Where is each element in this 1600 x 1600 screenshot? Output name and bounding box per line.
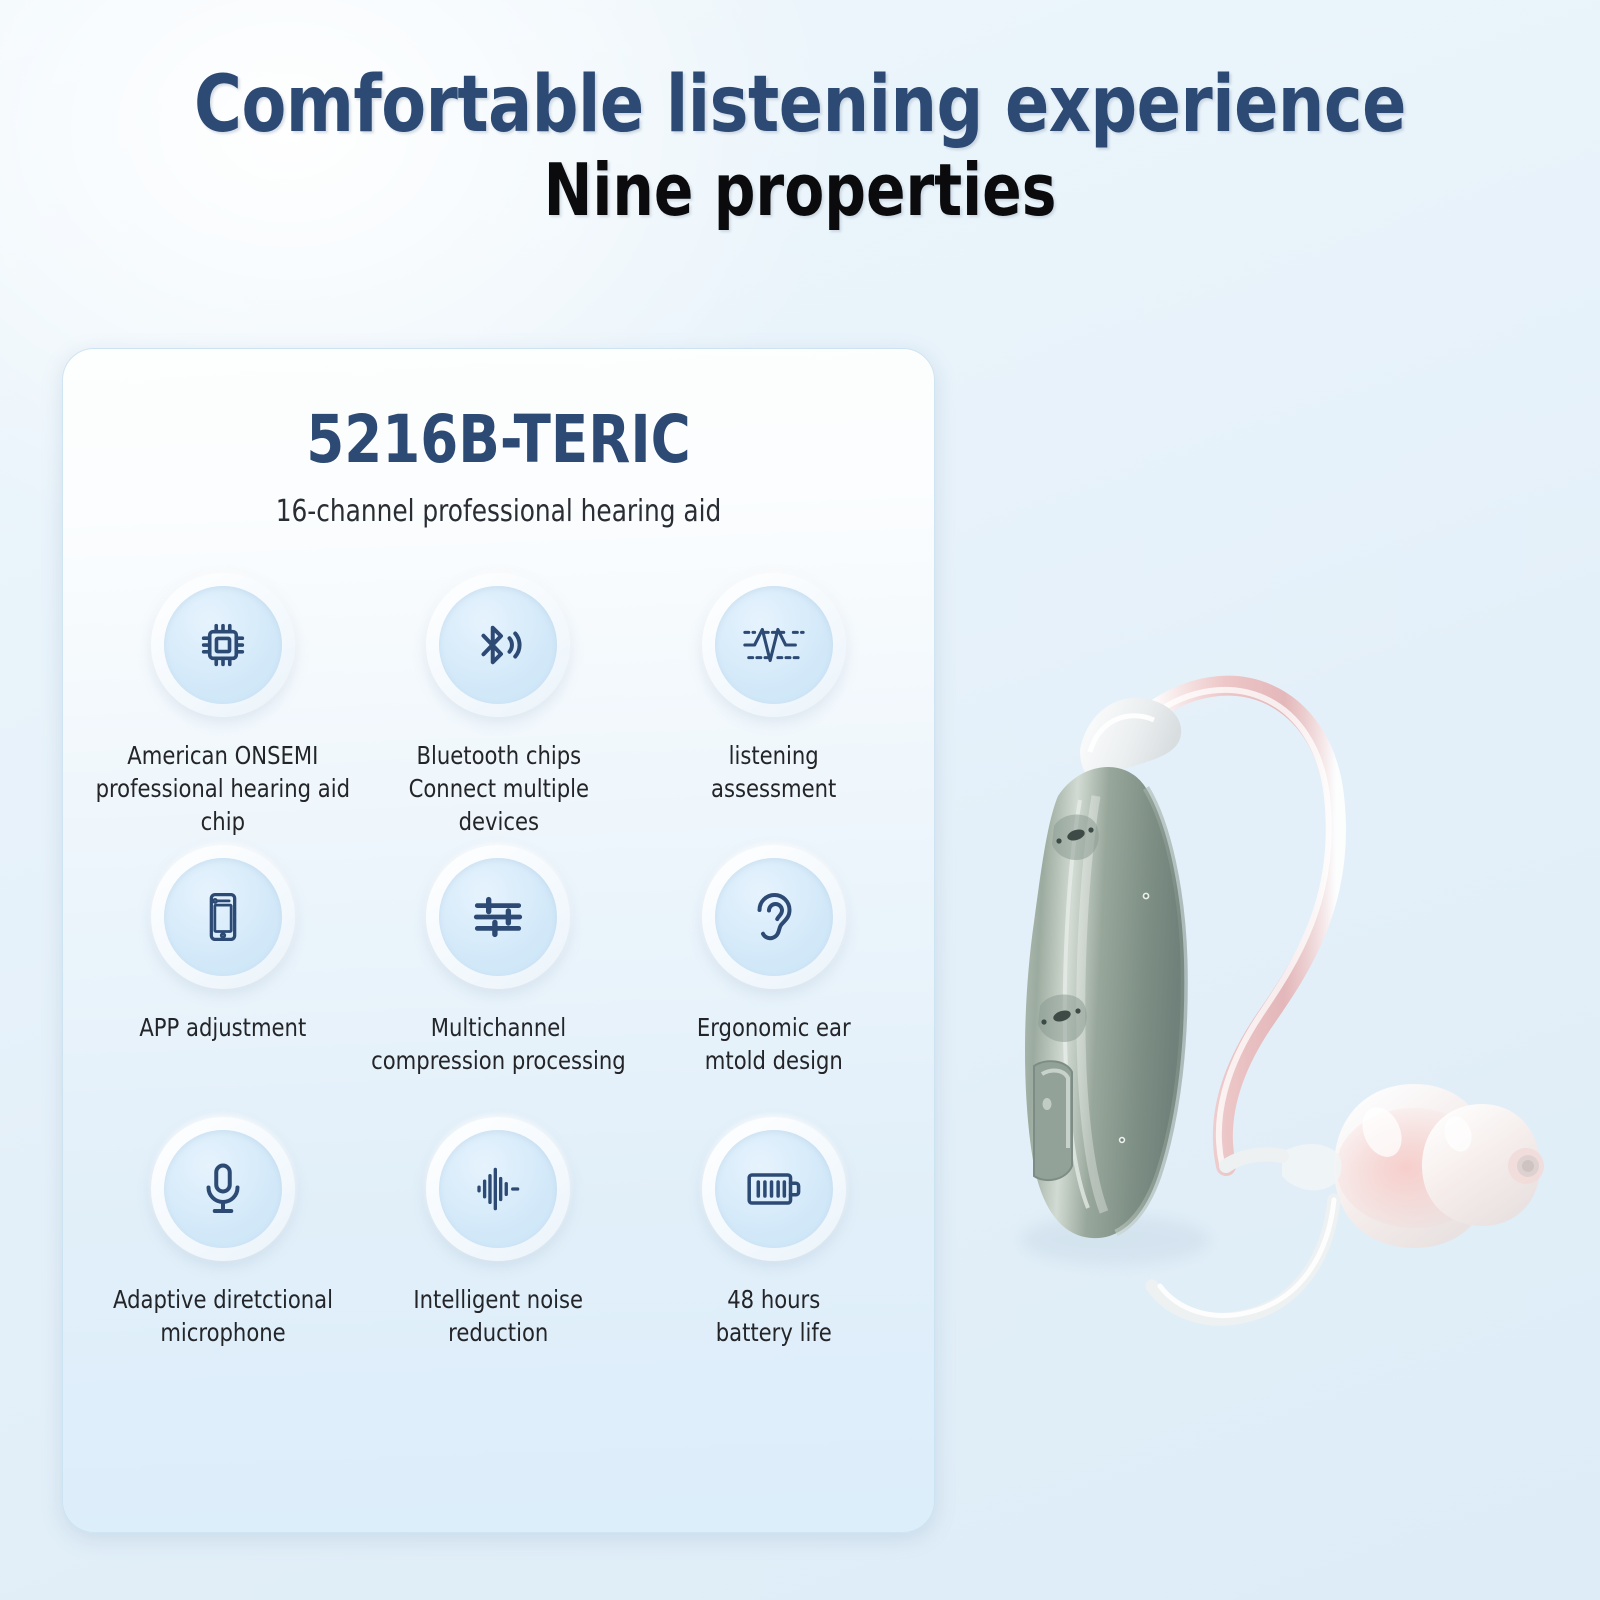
feature-icon-badge: [151, 845, 295, 989]
product-tagline: 16-channel professional hearing aid: [98, 494, 899, 529]
smartphone-icon: [164, 858, 282, 976]
sliders-icon: [439, 858, 557, 976]
battery-icon: [715, 1130, 833, 1248]
page-header: Comfortable listening experience Nine pr…: [0, 0, 1600, 230]
feature-item: 48 hours battery life: [636, 1117, 912, 1389]
feature-item: Bluetooth chips Connect multiple devices: [361, 573, 637, 845]
feature-grid: American ONSEMI professional hearing aid…: [63, 573, 934, 1389]
feature-label: 48 hours battery life: [716, 1283, 832, 1349]
feature-icon-badge: [426, 573, 570, 717]
feature-item: Adaptive diretctional microphone: [85, 1117, 361, 1389]
feature-icon-badge: [702, 573, 846, 717]
feature-label: APP adjustment: [139, 1011, 306, 1044]
feature-label: Adaptive diretctional microphone: [113, 1283, 333, 1349]
page-subtitle: Nine properties: [80, 150, 1520, 231]
waveform-icon: [715, 586, 833, 704]
feature-icon-badge: [702, 1117, 846, 1261]
bluetooth-icon: [439, 586, 557, 704]
feature-item: Intelligent noise reduction: [361, 1117, 637, 1389]
behind-the-ear-hearing-aid-photo: [930, 600, 1570, 1360]
feature-item: APP adjustment: [85, 845, 361, 1117]
feature-label: Intelligent noise reduction: [414, 1283, 584, 1349]
feature-icon-badge: [151, 573, 295, 717]
audio-bars-icon: [439, 1130, 557, 1248]
page-title: Comfortable listening experience: [56, 66, 1544, 146]
feature-item: Ergonomic ear mtold design: [636, 845, 912, 1117]
feature-label: listening assessment: [711, 739, 836, 805]
feature-item: Multichannel compression processing: [361, 845, 637, 1117]
feature-item: American ONSEMI professional hearing aid…: [85, 573, 361, 845]
chip-icon: [164, 586, 282, 704]
feature-icon-badge: [426, 1117, 570, 1261]
ear-icon: [715, 858, 833, 976]
product-feature-card: 5216B-TERIC 16-channel professional hear…: [62, 348, 935, 1533]
feature-label: Multichannel compression processing: [371, 1011, 626, 1077]
feature-icon-badge: [702, 845, 846, 989]
feature-label: American ONSEMI professional hearing aid…: [93, 739, 352, 838]
feature-label: Ergonomic ear mtold design: [697, 1011, 851, 1077]
feature-icon-badge: [426, 845, 570, 989]
product-model-name: 5216B-TERIC: [98, 401, 899, 478]
microphone-icon: [164, 1130, 282, 1248]
feature-label: Bluetooth chips Connect multiple devices: [369, 739, 628, 838]
feature-icon-badge: [151, 1117, 295, 1261]
feature-item: listening assessment: [636, 573, 912, 845]
